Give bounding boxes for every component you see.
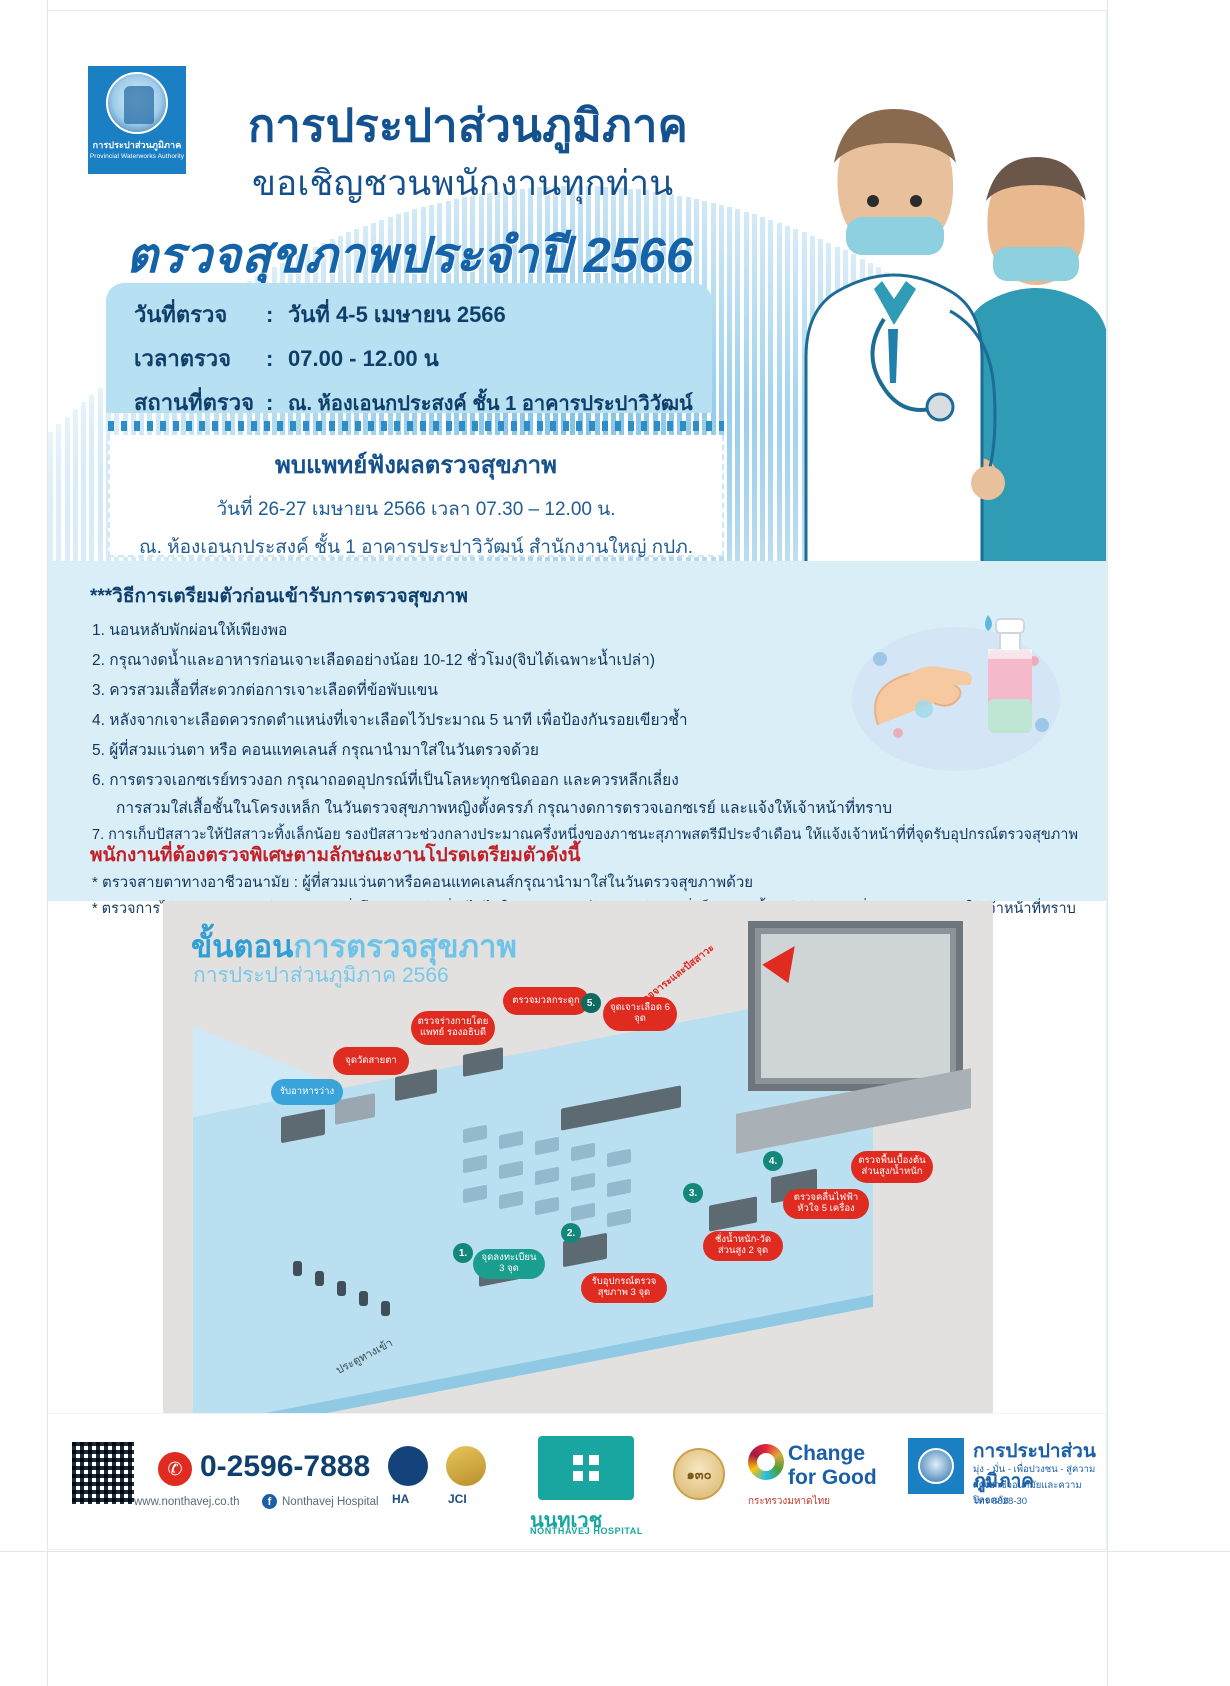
station-number: 3. <box>683 1183 703 1203</box>
hand-sanitizer-illustration <box>838 603 1068 783</box>
schedule-label: เวลาตรวจ <box>134 341 266 376</box>
pwa-logo-thai: การประปาส่วนภูมิภาค <box>93 138 182 152</box>
preparation-item: 6. การตรวจเอกซเรย์ทรวงอก กรุณาถอดอุปกรณ์… <box>92 767 679 792</box>
page-frame-right <box>1107 0 1108 1686</box>
special-exam-item: * ตรวจสายตาทางอาชีวอนามัย : ผู้ที่สวมแว่… <box>92 870 753 894</box>
stripe <box>56 424 61 561</box>
schedule-colon: : <box>266 346 288 372</box>
floorplan-diagram: ขั้นตอนการตรวจสุขภาพ การประปาส่วนภูมิภาค… <box>163 901 993 1413</box>
nonthavej-logo-icon <box>538 1436 634 1500</box>
floorplan-subtitle: การประปาส่วนภูมิภาค 2566 <box>193 959 449 992</box>
station-number: 1. <box>453 1243 473 1263</box>
schedule-colon: : <box>266 390 288 416</box>
poster-header: การประปาส่วนภูมิภาค Provincial Waterwork… <box>48 11 1107 561</box>
station-label: รับอุปกรณ์ตรวจสุขภาพ 3 จุด <box>581 1273 667 1303</box>
doctor-patient-illustration <box>688 51 1107 561</box>
hospital-name-english: NONTHAVEJ HOSPITAL <box>530 1526 643 1536</box>
schedule-row: วันที่ตรวจ : วันที่ 4-5 เมษายน 2566 <box>134 297 712 332</box>
station-label: รับอาหารว่าง <box>271 1079 343 1105</box>
jci-badge-label: JCI <box>448 1492 467 1506</box>
facebook-handle[interactable]: Nonthavej Hospital <box>282 1496 379 1508</box>
station-label: ชั่งน้ำหนัก-วัดส่วนสูง 2 จุด <box>703 1231 783 1261</box>
medical-cross-icon <box>573 1455 599 1481</box>
pwa-footer-tel: โทร 8828-30 <box>973 1494 1027 1509</box>
stripe <box>65 417 70 561</box>
schedule-value: วันที่ 4-5 เมษายน 2566 <box>288 297 506 332</box>
schedule-label: วันที่ตรวจ <box>134 297 266 332</box>
dashed-divider <box>108 421 724 431</box>
stripe <box>73 409 78 561</box>
special-exam-title: พนักงานที่ต้องตรวจพิเศษตามลักษณะงานโปรดเ… <box>90 840 581 870</box>
preparation-item: 1. นอนหลับพักผ่อนให้เพียงพอ <box>92 617 287 642</box>
change-for-good-line-2: for Good <box>788 1466 877 1490</box>
ha-badge-icon <box>388 1446 428 1486</box>
preparation-item: 2. กรุณางดน้ำและอาหารก่อนเจาะเลือดอย่างน… <box>92 647 655 672</box>
preparation-title: ***วิธีการเตรียมตัวก่อนเข้ารับการตรวจสุข… <box>90 581 468 611</box>
schedule-value: 07.00 - 12.00 น <box>288 341 439 376</box>
station-label: ตรวจมวลกระดูก <box>503 987 589 1015</box>
phone-icon: ✆ <box>158 1452 192 1486</box>
station-label: ตรวจร่างกายโดยแพทย์ รองอธิบดี <box>411 1011 495 1045</box>
doctor-callout-heading: พบแพทย์ฟังผลตรวจสุขภาพ <box>275 445 557 484</box>
preparation-item: 5. ผู้ที่สวมแว่นตา หรือ คอนแทคเลนส์ กรุณ… <box>92 737 539 762</box>
ha-badge-label: HA <box>392 1492 409 1506</box>
stripe <box>48 432 53 561</box>
sdg-wheel-icon <box>748 1444 784 1480</box>
title-line-1: การประปาส่วนภูมิภาค <box>248 89 688 161</box>
poster-page: การประปาส่วนภูมิภาค Provincial Waterwork… <box>47 10 1107 1550</box>
schedule-value: ณ. ห้องเอนกประสงค์ ชั้น 1 อาคารประปาวิวั… <box>288 387 693 419</box>
station-number: 2. <box>561 1223 581 1243</box>
title-line-2: ขอเชิญชวนพนักงานทุกท่าน <box>252 156 673 211</box>
qr-code[interactable] <box>70 1440 136 1506</box>
station-label: จุดลงทะเบียน 3 จุด <box>473 1249 545 1279</box>
schedule-label: สถานที่ตรวจ <box>134 385 266 420</box>
station-label: ตรวจคลื่นไฟฟ้าหัวใจ 5 เครื่อง <box>783 1189 869 1219</box>
station-label: จุดวัดสายตา <box>333 1047 409 1075</box>
royal-seal-icon: ๑๓๐ <box>673 1448 725 1500</box>
schedule-panel: วันที่ตรวจ : วันที่ 4-5 เมษายน 2566 เวลา… <box>106 283 712 413</box>
station-number: 5. <box>581 993 601 1013</box>
doctor-result-callout: พบแพทย์ฟังผลตรวจสุขภาพ วันที่ 26-27 เมษา… <box>108 435 724 557</box>
schedule-row: เวลาตรวจ : 07.00 - 12.00 น <box>134 341 712 376</box>
pwa-seal-icon <box>106 72 168 134</box>
facebook-icon[interactable]: f <box>262 1494 277 1509</box>
poster-footer: ✆ 0-2596-7888 www.nonthavej.co.th f Nont… <box>48 1413 1107 1550</box>
page-frame-bottom <box>0 1551 1230 1552</box>
pwa-footer-logo-icon <box>908 1438 964 1494</box>
schedule-row: สถานที่ตรวจ : ณ. ห้องเอนกประสงค์ ชั้น 1 … <box>134 385 712 420</box>
stripe <box>98 388 103 561</box>
preparation-item: 4. หลังจากเจาะเลือดควรกดตำแหน่งที่เจาะเล… <box>92 707 688 732</box>
website-url[interactable]: www.nonthavej.co.th <box>134 1496 239 1508</box>
schedule-colon: : <box>266 302 288 328</box>
station-number: 4. <box>763 1151 783 1171</box>
doctor-callout-line-2: ณ. ห้องเอนกประสงค์ ชั้น 1 อาคารประปาวิวั… <box>139 532 693 561</box>
preparation-item-continued: การสวมใส่เสื้อชั้นในโครงเหล็ก ในวันตรวจส… <box>116 795 892 820</box>
page-frame-left <box>47 0 48 1686</box>
station-label: ตรวจพื้นเบื้องต้น ส่วนสูง/น้ำหนัก <box>851 1151 933 1183</box>
change-for-good-line-1: Change <box>788 1442 865 1466</box>
station-label: จุดเจาะเลือด 6 จุด <box>603 997 677 1031</box>
phone-number[interactable]: 0-2596-7888 <box>200 1450 370 1484</box>
stripe <box>81 402 86 561</box>
preparation-section: ***วิธีการเตรียมตัวก่อนเข้ารับการตรวจสุข… <box>48 561 1107 901</box>
pwa-logo-english: Provincial Waterworks Authority <box>90 153 184 160</box>
jci-badge-icon <box>446 1446 486 1486</box>
doctor-callout-line-1: วันที่ 26-27 เมษายน 2566 เวลา 07.30 – 12… <box>216 494 615 524</box>
stripe <box>89 395 94 561</box>
preparation-item: 3. ควรสวมเสื้อที่สะดวกต่อการเจาะเลือดที่… <box>92 677 438 702</box>
pwa-logo: การประปาส่วนภูมิภาค Provincial Waterwork… <box>88 66 186 174</box>
ministry-label: กระทรวงมหาดไทย <box>748 1494 830 1509</box>
